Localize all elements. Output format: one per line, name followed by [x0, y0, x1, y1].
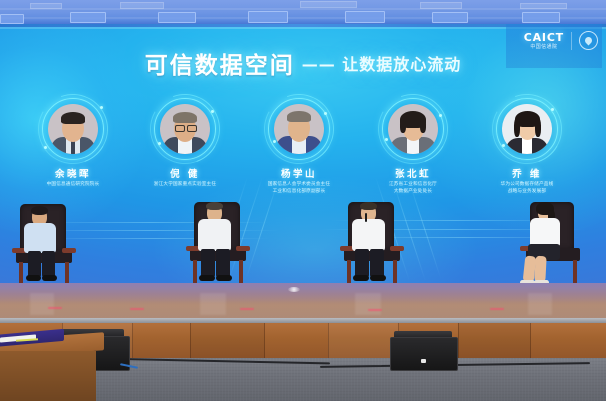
speaker-card: 余晓晖 中国信息通信研究院院长: [18, 98, 128, 189]
caict-wordmark: CAICT: [524, 32, 564, 43]
panelist-seat: [340, 202, 406, 296]
secondary-org-mark-icon: [579, 31, 598, 50]
speaker-title: 国家信息人会学术委员会主任 工业和信息化部原副部长: [244, 182, 354, 196]
speaker-name: 杨学山: [244, 166, 354, 180]
speaker-name: 余晓晖: [18, 166, 128, 180]
panelist-seat: [186, 202, 252, 296]
portrait-ring-frame: [268, 98, 330, 160]
speaker-card: 乔 维 华为公司数据存储产品线 战略与业务发展部: [472, 98, 582, 196]
page-subtitle: —— 让数据放心流动: [302, 51, 462, 75]
caict-wordmark-cn: 中国信通院: [530, 45, 557, 50]
speaker-card: 倪 健 浙江大学国家重点实验室主任: [130, 98, 240, 189]
speaker-portrait: [160, 104, 210, 154]
speaker-title: 江苏省工业和信息化厅 大数据产业处处长: [358, 182, 468, 196]
stage-monitor-right: [390, 331, 456, 369]
speaker-card: 杨学山 国家信息人会学术委员会主任 工业和信息化部原副部长: [244, 98, 354, 196]
speaker-card: 张北虹 江苏省工业和信息化厅 大数据产业处处长: [358, 98, 468, 196]
page-title: 可信数据空间: [145, 46, 295, 80]
speaker-title: 浙江大学国家重点实验室主任: [130, 182, 240, 189]
conference-stage-photo: 可信数据空间—— 让数据放心流动 CAICT 中国信通院: [0, 0, 606, 401]
speaker-name: 倪 健: [130, 166, 240, 180]
speaker-title: 中国信息通信研究院院长: [18, 182, 128, 189]
caict-logo: CAICT 中国信通院: [524, 32, 564, 50]
portrait-ring-frame: [42, 98, 104, 160]
portrait-ring-frame: [154, 98, 216, 160]
portrait-ring-frame: [382, 98, 444, 160]
floor-light-reflection: [288, 287, 300, 292]
portrait-ring-frame: [496, 98, 558, 160]
speaker-card-row: 余晓晖 中国信息通信研究院院长 倪 健: [0, 98, 606, 210]
logo-group: CAICT 中国信通院: [524, 31, 598, 50]
handheld-microphone: [365, 213, 367, 222]
speaker-portrait: [502, 104, 552, 154]
speaker-name: 乔 维: [472, 166, 582, 180]
speaker-portrait: [274, 104, 324, 154]
speaker-name: 张北虹: [358, 166, 468, 180]
speaker-portrait: [388, 104, 438, 154]
speaker-portrait: [48, 104, 98, 154]
panelist-seat: [516, 202, 582, 296]
speaker-title: 华为公司数据存储产品线 战略与业务发展部: [472, 182, 582, 196]
stage-floor: [0, 283, 606, 320]
ceiling: [0, 0, 606, 26]
logo-divider: [571, 32, 572, 50]
press-table: [0, 336, 104, 401]
